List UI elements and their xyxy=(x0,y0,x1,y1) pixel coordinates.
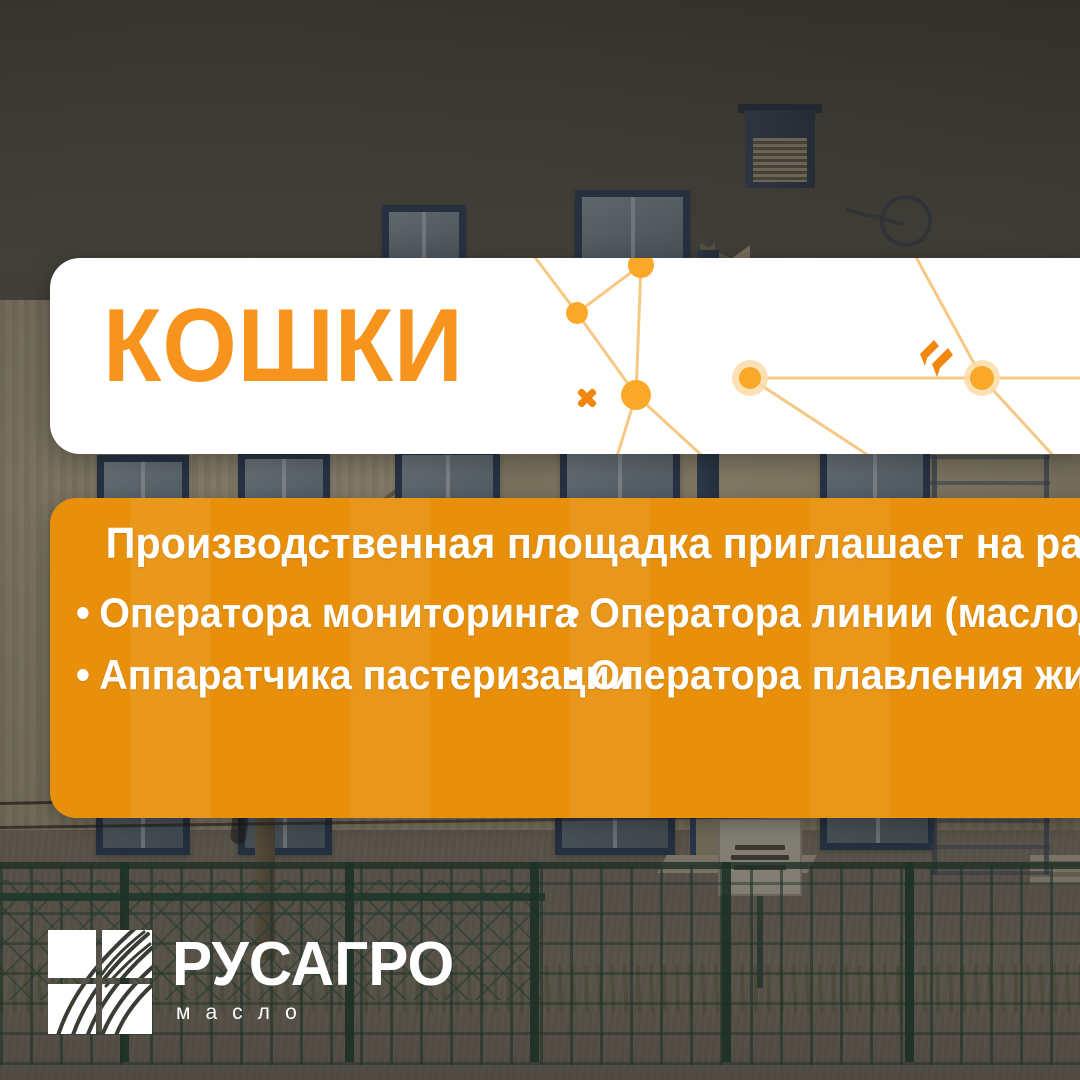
vacancy-list-item: •Аппаратчика пастеризации xyxy=(76,644,537,706)
vacancy-list-item: •Оператора линии (маслодела) xyxy=(566,582,1055,644)
net-edge xyxy=(750,378,880,454)
vacancy-label: Оператора мониторинга xyxy=(99,589,576,636)
net-edge xyxy=(577,313,636,395)
net-edge xyxy=(636,265,641,395)
net-edge xyxy=(528,258,577,313)
logo-subtitle: масло xyxy=(176,1002,312,1023)
vacancy-label: Оператора плавления жиров xyxy=(589,651,1080,698)
x-mark xyxy=(577,388,598,409)
page-title: КОШКИ xyxy=(103,294,464,398)
vacancy-label: Аппаратчика пастеризации xyxy=(99,651,634,698)
vacancy-column-right: •Оператора линии (маслодела) •Оператора … xyxy=(566,582,1080,706)
bullet-icon: • xyxy=(76,651,90,698)
rusagro-logo: РУСАГРО масло xyxy=(48,930,400,1042)
vacancy-heading: Производственная площадка приглашает на … xyxy=(106,516,1035,572)
vacancy-label: Оператора линии (маслодела) xyxy=(589,589,1080,636)
double-chevron-left-icon xyxy=(920,340,953,377)
title-banner: КОШКИ xyxy=(50,258,1080,454)
vacancy-banner: Производственная площадка приглашает на … xyxy=(50,498,1080,818)
bullet-icon: • xyxy=(76,589,90,636)
poster-root: КОШКИ Производственная площадка приглаша… xyxy=(0,0,1080,1080)
bullet-icon: • xyxy=(566,651,580,698)
rusagro-wheat-square-logo xyxy=(48,930,152,1034)
vacancy-list-item: •Оператора мониторинга xyxy=(76,582,537,644)
vacancy-columns: •Оператора мониторинга •Аппаратчика паст… xyxy=(76,582,1064,706)
bullet-icon: • xyxy=(566,589,580,636)
logo-wordmark: РУСАГРО xyxy=(172,934,454,996)
vacancy-column-left: •Оператора мониторинга •Аппаратчика паст… xyxy=(76,582,566,706)
vacancy-list-item: •Оператора плавления жиров xyxy=(566,644,1055,706)
